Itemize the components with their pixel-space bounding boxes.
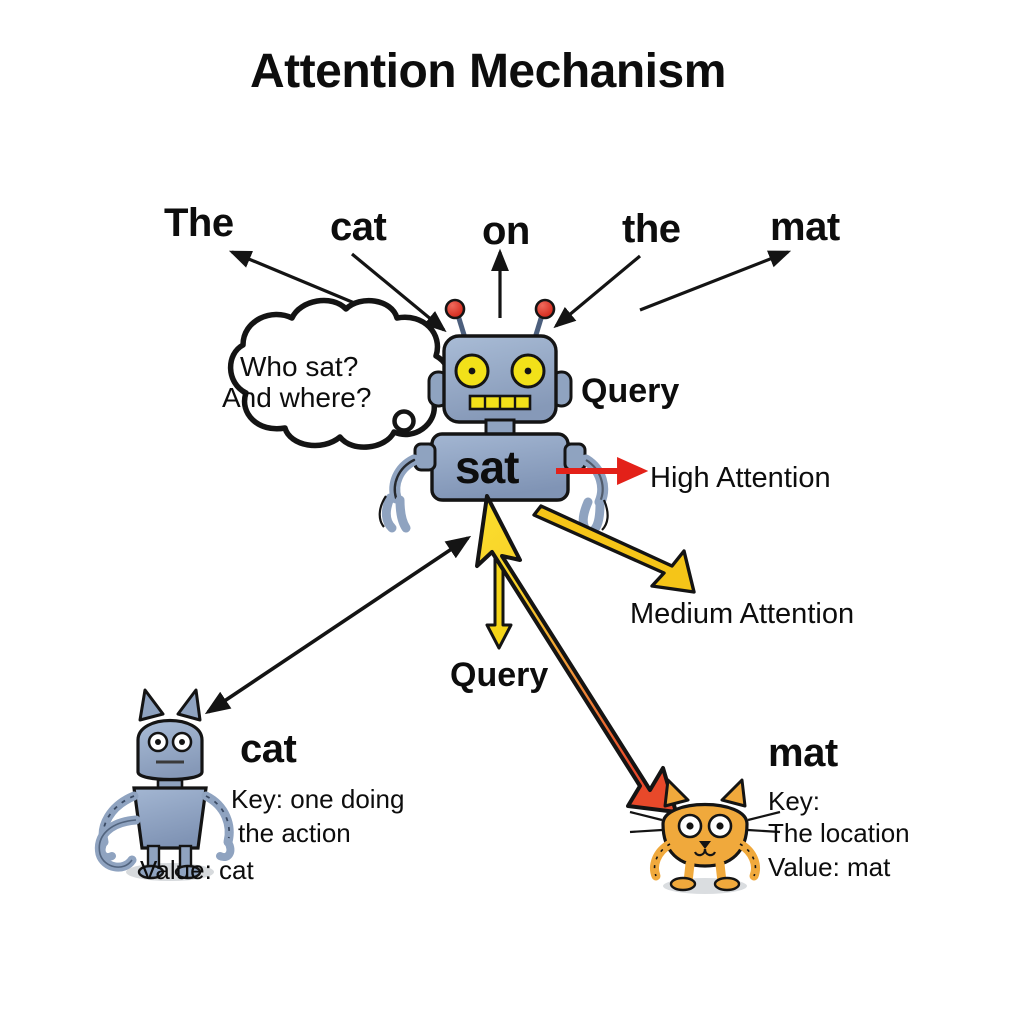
entity-name-cat: cat bbox=[240, 726, 296, 772]
token-arrow-mat bbox=[640, 252, 788, 310]
entity-value-mat: Value: mat bbox=[768, 852, 890, 882]
entity-key-cat-line2: the action bbox=[238, 818, 351, 848]
entity-key-cat-line1: Key: one doing bbox=[231, 784, 404, 814]
thought-bubble-line1: Who sat? bbox=[240, 351, 358, 383]
sentence-token-the1[interactable]: The bbox=[164, 200, 234, 246]
sentence-token-on[interactable]: on bbox=[482, 208, 530, 254]
entity-name-mat: mat bbox=[768, 730, 838, 776]
high-attention-label: High Attention bbox=[650, 462, 831, 496]
medium-attention-label: Medium Attention bbox=[630, 598, 854, 632]
sentence-token-the2[interactable]: the bbox=[622, 206, 681, 252]
diagram-canvas: Attention Mechanism The cat on the mat W… bbox=[0, 0, 1024, 1024]
strong-attention-arrow bbox=[477, 496, 676, 812]
sentence-token-cat[interactable]: cat bbox=[330, 204, 386, 250]
entity-key-mat-line1: Key: bbox=[768, 786, 820, 816]
token-arrow-the-right bbox=[556, 256, 640, 326]
robot-token-sat: sat bbox=[455, 441, 518, 494]
query-label-top: Query bbox=[581, 372, 679, 411]
cat-link-arrow bbox=[208, 538, 468, 712]
page-title: Attention Mechanism bbox=[250, 44, 726, 100]
entity-value-cat: Value: cat bbox=[140, 855, 254, 885]
entity-key-mat-line2: The location bbox=[768, 818, 910, 848]
query-label-bottom: Query bbox=[450, 656, 548, 695]
medium-attention-arrow bbox=[534, 506, 694, 592]
cat-robot-figure bbox=[99, 690, 230, 881]
sentence-token-mat[interactable]: mat bbox=[770, 204, 840, 250]
thought-bubble-line2: And where? bbox=[222, 382, 371, 414]
